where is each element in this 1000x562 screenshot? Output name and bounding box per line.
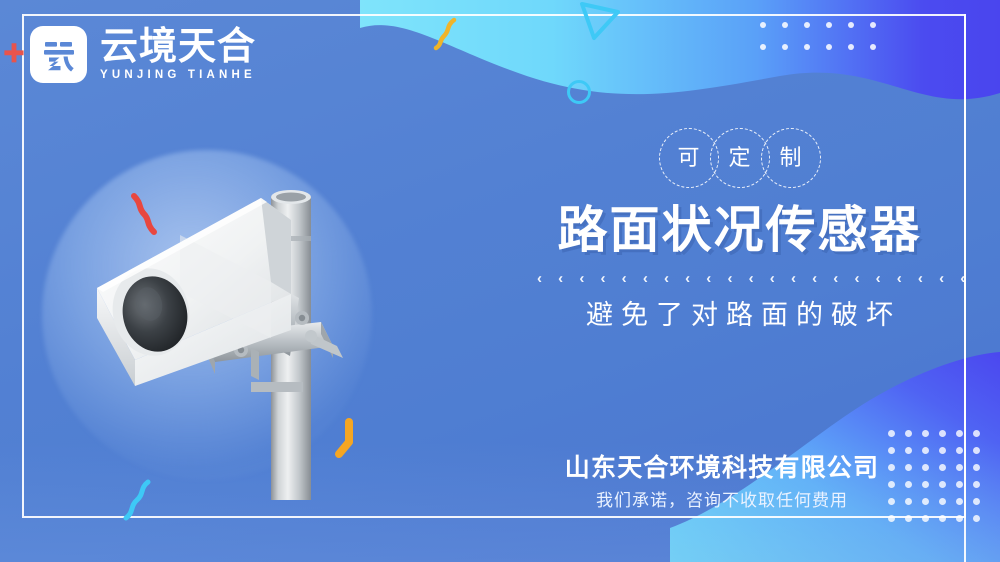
chevron-divider: ‹ ‹ ‹ ‹ ‹ ‹ ‹ ‹ ‹ ‹ ‹ ‹ ‹ ‹ ‹ ‹ ‹ ‹ ‹ ‹ …	[537, 270, 942, 287]
headline-block: 可 定 制 路面状况传感器 ‹ ‹ ‹ ‹ ‹ ‹ ‹ ‹ ‹ ‹ ‹ ‹ ‹ …	[537, 128, 942, 332]
road-condition-sensor-image	[75, 170, 405, 500]
company-slogan: 我们承诺，咨询不收取任何费用	[536, 486, 908, 511]
brand-name-cn: 云境天合	[100, 28, 256, 67]
brand-name-en: YUNJING TIANHE	[100, 69, 256, 81]
triangle-outline-icon	[578, 0, 622, 42]
dot-grid-icon	[760, 22, 892, 66]
tianhe-cloud-logo-icon	[30, 26, 87, 83]
customizable-badges: 可 定 制	[537, 128, 942, 188]
badge-zhi: 制	[761, 128, 821, 188]
company-name: 山东天合环境科技有限公司	[536, 448, 908, 484]
brand-logo[interactable]: 云境天合 YUNJING TIANHE	[30, 26, 256, 83]
plus-icon	[2, 42, 26, 66]
page-subtitle: 避免了对路面的破坏	[537, 293, 942, 332]
circle-outline-icon	[567, 80, 591, 104]
page-title: 路面状况传感器	[537, 202, 942, 258]
squiggle-icon	[430, 16, 462, 52]
wave-top-decoration	[360, 0, 1000, 118]
promo-banner: 云境天合 YUNJING TIANHE	[0, 0, 1000, 562]
